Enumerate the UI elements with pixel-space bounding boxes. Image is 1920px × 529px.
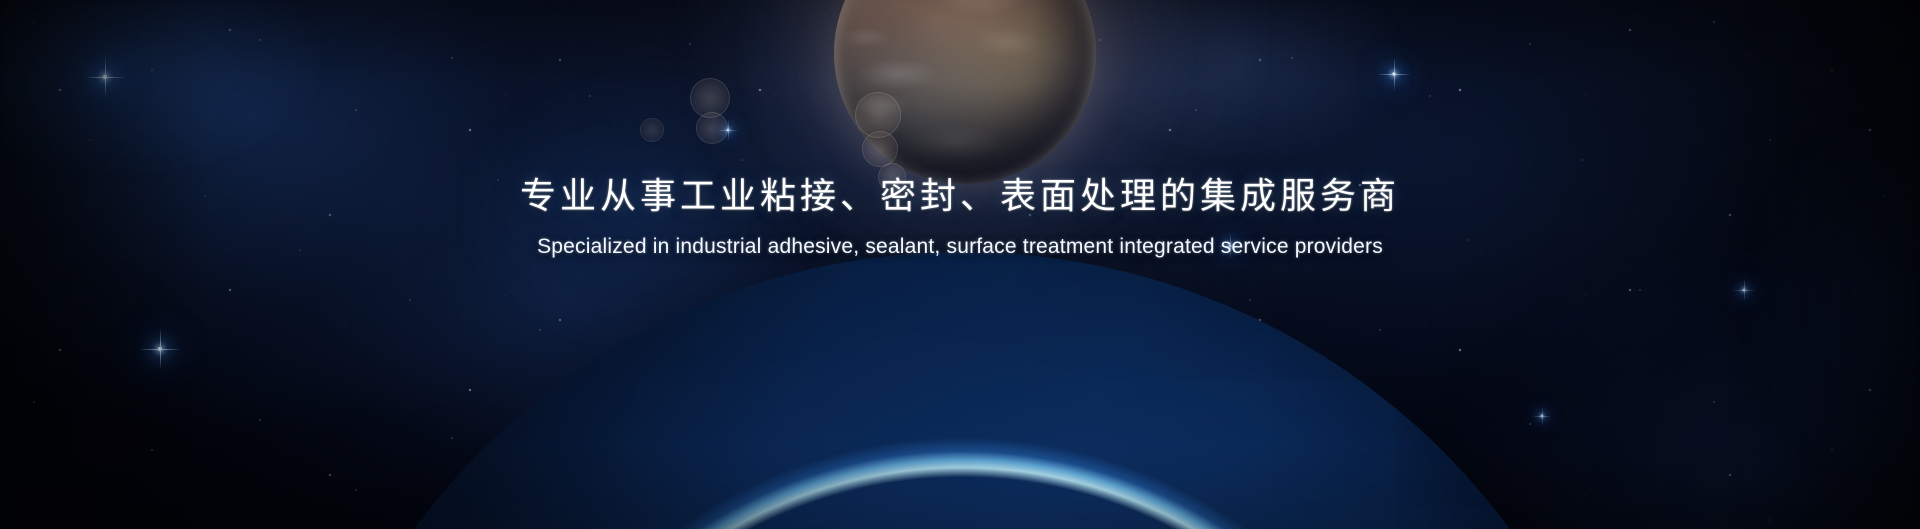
hero-title-chinese: 专业从事工业粘接、密封、表面处理的集成服务商	[0, 172, 1920, 220]
bright-star-icon	[1392, 72, 1395, 75]
lens-flare-icon	[696, 112, 728, 144]
lens-flare-icon	[640, 118, 664, 142]
bright-star-icon	[1743, 289, 1745, 291]
hero-text-block: 专业从事工业粘接、密封、表面处理的集成服务商 Specialized in in…	[0, 172, 1920, 262]
bright-star-icon	[158, 347, 162, 351]
bright-star-icon	[103, 75, 107, 79]
hero-banner: 专业从事工业粘接、密封、表面处理的集成服务商 Specialized in in…	[0, 0, 1920, 529]
earth-planet	[282, 252, 1642, 529]
hero-subtitle-english: Specialized in industrial adhesive, seal…	[0, 232, 1920, 262]
